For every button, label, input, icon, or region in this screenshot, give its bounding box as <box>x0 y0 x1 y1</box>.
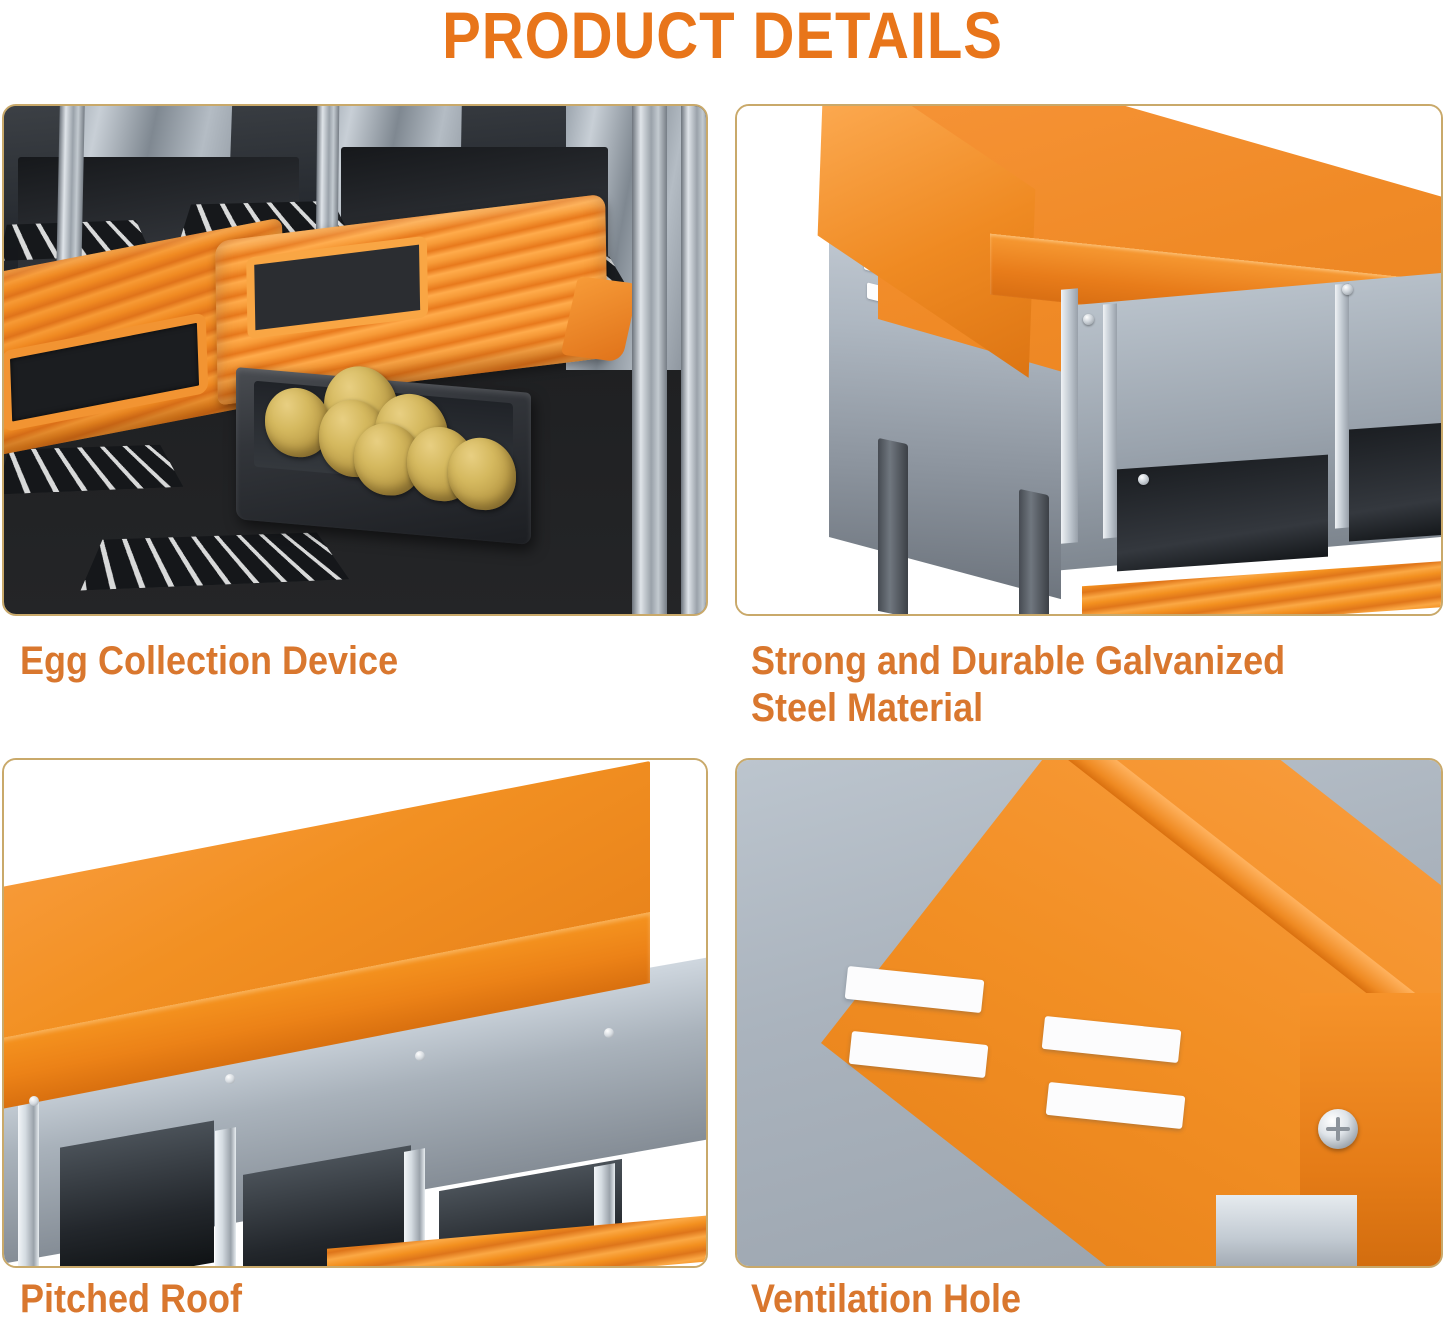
nesting-compartment <box>1117 454 1328 570</box>
screw-icon <box>415 1051 425 1061</box>
screw-icon <box>1318 1109 1358 1149</box>
steel-frame-post <box>681 106 706 614</box>
caption-pitched-roof: Pitched Roof <box>20 1276 704 1323</box>
screw-icon <box>225 1074 235 1084</box>
feature-panel-pitched-roof <box>2 758 708 1268</box>
lid-handle-cutout <box>4 313 208 432</box>
nesting-compartment <box>60 1121 214 1266</box>
support-leg <box>1019 489 1049 614</box>
support-leg <box>878 438 908 614</box>
nesting-compartment <box>1349 423 1441 542</box>
egg-group <box>236 350 531 503</box>
caption-galvanized-steel-material: Strong and Durable Galvanized Steel Mate… <box>751 638 1445 732</box>
galvanized-post <box>1216 1195 1357 1266</box>
compartment-divider <box>215 1128 236 1266</box>
page-title: PRODUCT DETAILS <box>87 0 1359 74</box>
lid-handle-cutout <box>246 235 427 339</box>
compartment-divider <box>1061 288 1078 543</box>
photo-egg-collection-device <box>4 106 706 614</box>
feature-panel-egg-collection-device <box>2 104 708 616</box>
compartment-divider <box>1335 283 1349 528</box>
photo-pitched-roof <box>4 760 706 1266</box>
feature-panel-ventilation-hole <box>735 758 1443 1268</box>
caption-ventilation-hole: Ventilation Hole <box>751 1276 1445 1323</box>
steel-frame-post <box>632 106 667 614</box>
caption-egg-collection-device: Egg Collection Device <box>20 638 704 685</box>
photo-ventilation-hole <box>737 760 1441 1266</box>
perforated-floor-plate <box>4 445 184 495</box>
photo-galvanized-steel-material <box>737 106 1441 614</box>
compartment-divider <box>1103 303 1117 538</box>
feature-panel-galvanized-steel-material <box>735 104 1443 616</box>
compartment-divider <box>18 1102 39 1266</box>
